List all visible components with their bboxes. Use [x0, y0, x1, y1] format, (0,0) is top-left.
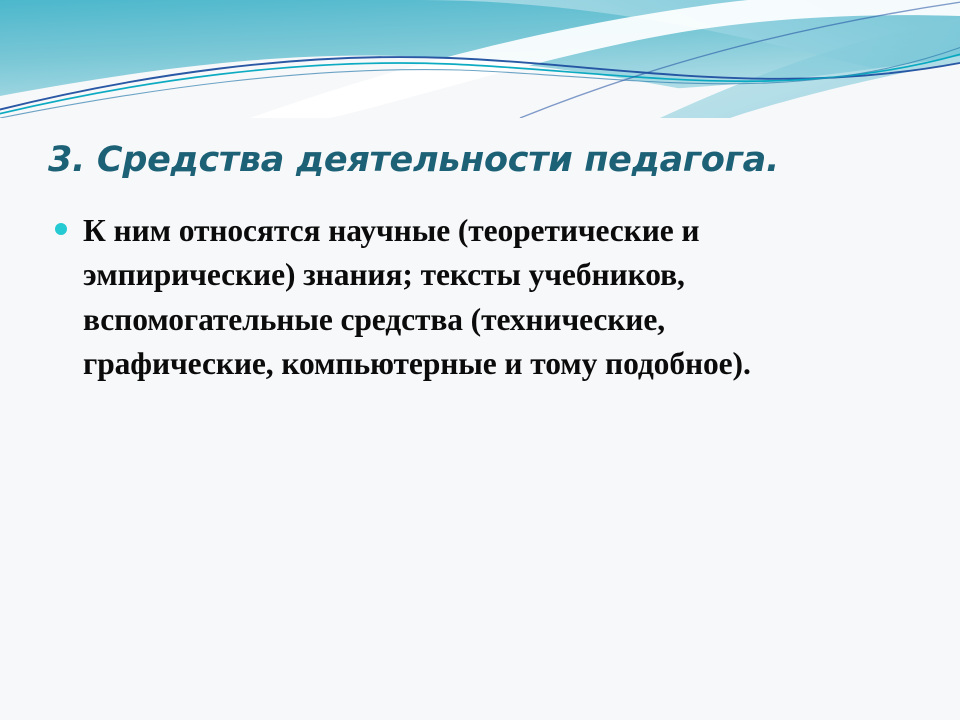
bullet-line: К ним относятся научные (теоретические и: [83, 209, 935, 253]
list-item: К ним относятся научные (теоретические и…: [55, 209, 935, 386]
bullet-line: эмпирические) знания; тексты учебников,: [83, 253, 935, 297]
bullet-paragraph: К ним относятся научные (теоретические и…: [83, 209, 935, 386]
page-title: 3. Средства деятельности педагога.: [48, 141, 918, 180]
bullet-line: графические, компьютерные и тому подобно…: [83, 342, 935, 386]
bullet-dot-icon: [55, 223, 67, 235]
wave-graphic: [0, 0, 960, 118]
header-wave-decoration: [0, 0, 960, 118]
slide: 3. Средства деятельности педагога. К ним…: [0, 0, 960, 720]
bullet-line: вспомогательные средства (технические,: [83, 298, 935, 342]
slide-body: К ним относятся научные (теоретические и…: [55, 209, 935, 386]
